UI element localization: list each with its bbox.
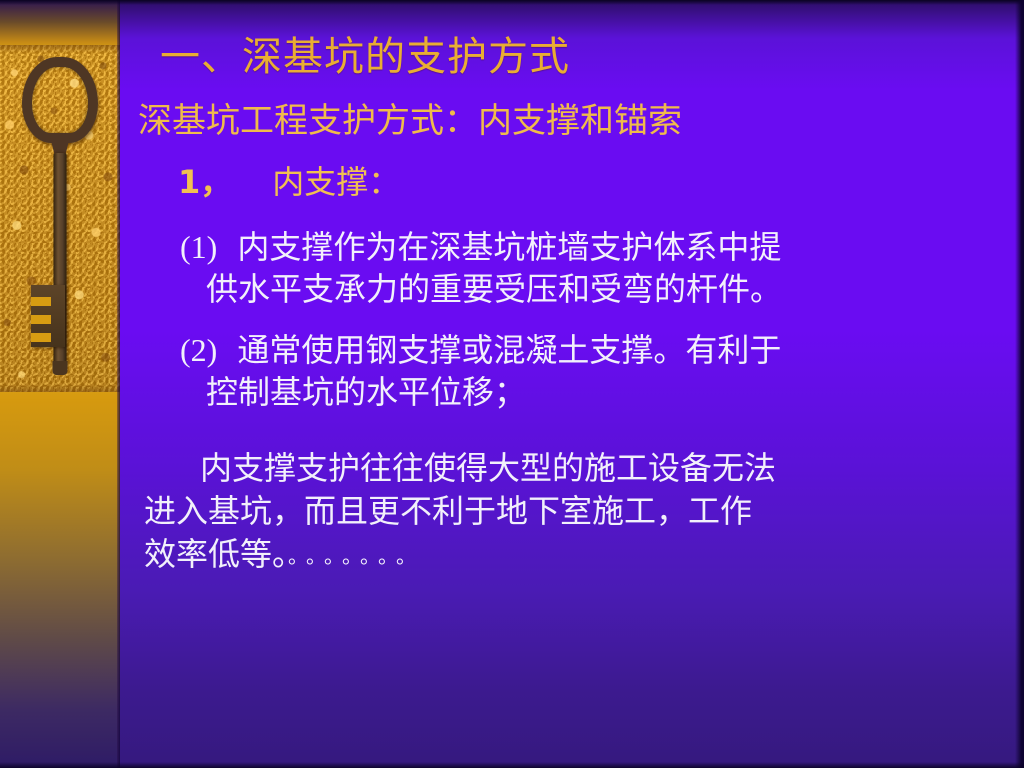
key-tooth-2: [31, 315, 51, 324]
bullet-item-1: (1)内支撑作为在深基坑桩墙支护体系中提 供水平支承力的重要受压和受弯的杆件。: [180, 227, 988, 310]
bullet-line-1b: 供水平支承力的重要受压和受弯的杆件。: [180, 269, 988, 311]
closing-paragraph: 内支撑支护往往使得大型的施工设备无法 进入基坑，而且更不利于地下室施工，工作 效…: [144, 447, 1004, 576]
key-tip-shape: [53, 361, 68, 375]
closing-line-1: 内支撑支护往往使得大型的施工设备无法: [200, 450, 776, 486]
photo-bottom-fade: [0, 384, 120, 392]
bullet-line-2b: 控制基坑的水平位移；: [180, 372, 988, 414]
bullet-marker-2: (2): [180, 330, 217, 372]
slide-subtitle: 深基坑工程支护方式：内支撑和锚索: [138, 102, 682, 143]
bullet-item-2: (2)通常使用钢支撑或混凝土支撑。有利于 控制基坑的水平位移；: [180, 330, 988, 413]
closing-line-3: 效率低等。: [144, 536, 288, 572]
photo-top-fade: [0, 45, 120, 53]
closing-ellipsis-dots: 。。。。。。。: [288, 546, 424, 568]
closing-line-2: 进入基坑，而且更不利于地下室施工，工作: [144, 493, 752, 529]
level1-label: 内支撑：: [272, 164, 400, 200]
bullet-line-1a: 内支撑作为在深基坑桩墙支护体系中提: [237, 229, 781, 265]
bullet-line-2a: 通常使用钢支撑或混凝土支撑。有利于: [237, 332, 781, 368]
level1-number: 1，: [178, 163, 232, 201]
slide-canvas: 一、深基坑的支护方式 深基坑工程支护方式：内支撑和锚索 1，内支撑： (1)内支…: [0, 0, 1024, 768]
key-icon: [19, 57, 101, 377]
key-tooth-1: [31, 297, 51, 306]
antique-key-photo: [0, 45, 120, 392]
slide-content: 一、深基坑的支护方式 深基坑工程支护方式：内支撑和锚索 1，内支撑： (1)内支…: [120, 0, 1024, 768]
key-bow-shape: [22, 57, 98, 143]
slide-title: 一、深基坑的支护方式: [160, 33, 570, 80]
sidebar-decoration: [0, 0, 120, 768]
key-tooth-3: [31, 333, 51, 342]
bullet-marker-1: (1): [180, 227, 217, 269]
list-item-level1: 1，内支撑：: [178, 163, 400, 201]
